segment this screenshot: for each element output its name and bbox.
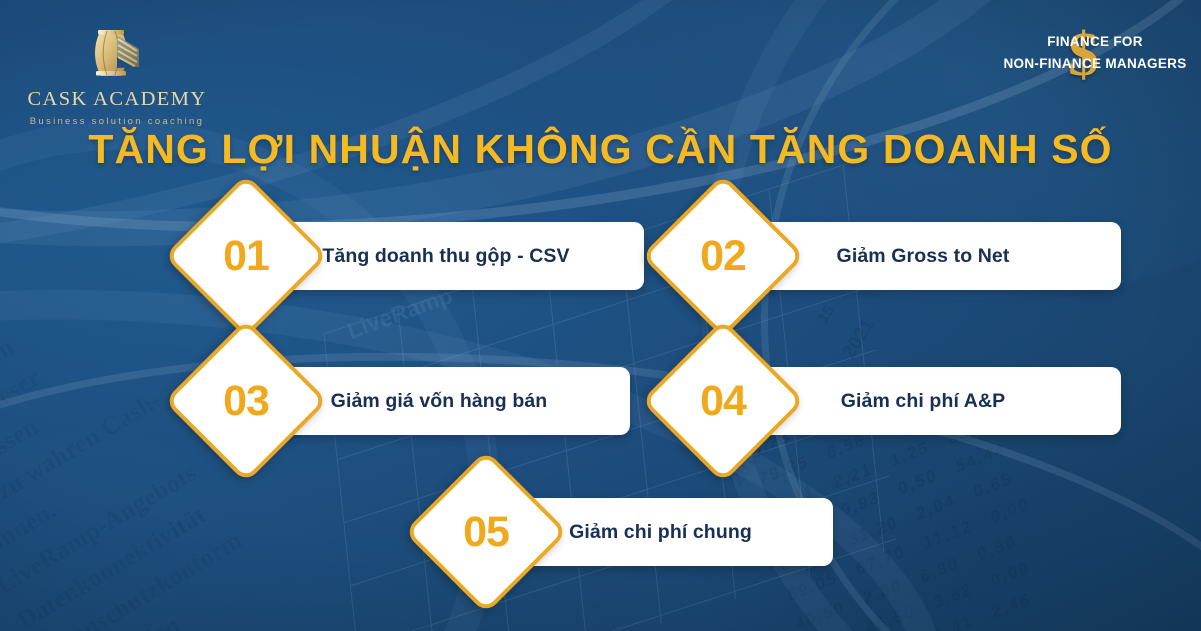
- cask-academy-logo: CASK ACADEMY Business solution coaching: [22, 22, 212, 127]
- card-number-diamond: 02: [641, 174, 805, 338]
- page-title: TĂNG LỢI NHUẬN KHÔNG CẦN TĂNG DOANH SỐ: [0, 126, 1201, 173]
- ffm-logo-line-2: NON-FINANCE MANAGERS: [995, 56, 1195, 71]
- card-label: Giảm chi phí chung: [569, 521, 752, 544]
- card-number-diamond: 03: [164, 319, 328, 483]
- card-label: Giảm Gross to Net: [837, 245, 1010, 268]
- background-ribbon: [0, 296, 1201, 631]
- slide-canvas: für die von 35,3 Milliarden zent zulegen…: [0, 0, 1201, 631]
- card-label: Tăng doanh thu gộp - CSV: [322, 245, 569, 268]
- card-label: Giảm giá vốn hàng bán: [331, 390, 548, 413]
- card-number: 05: [432, 478, 540, 586]
- card-number: 03: [192, 347, 300, 455]
- card-label: Giảm chi phí A&P: [841, 390, 1005, 413]
- ffm-logo-line-1: FINANCE FOR: [995, 34, 1195, 49]
- card-number-diamond: 04: [641, 319, 805, 483]
- card-number: 01: [192, 202, 300, 310]
- card-number: 04: [669, 347, 777, 455]
- cask-barrel-book-icon: [87, 22, 147, 84]
- finance-for-non-finance-managers-logo: $ FINANCE FOR NON-FINANCE MANAGERS: [995, 28, 1195, 84]
- liveramp-watermark: LiveRamp: [344, 282, 457, 345]
- card-number-diamond: 01: [164, 174, 328, 338]
- card-number-diamond: 05: [404, 450, 568, 614]
- logo-wordmark: CASK ACADEMY: [22, 88, 212, 111]
- chart-year-label: 2021: [839, 315, 880, 363]
- card-number: 02: [669, 202, 777, 310]
- chart-axis-label: 15: [815, 303, 838, 326]
